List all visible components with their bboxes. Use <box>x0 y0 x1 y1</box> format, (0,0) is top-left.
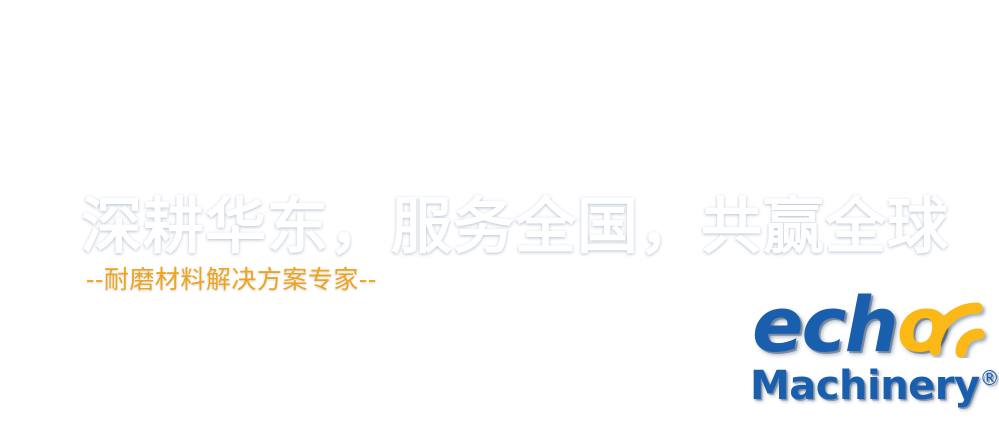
logo-wordmark: echo <box>748 293 999 371</box>
logo-machinery-word: Machinery <box>750 363 980 409</box>
logo-machinery-text: Machinery® <box>750 366 999 406</box>
promo-banner: 深耕华东，服务全国，共赢全球 --耐磨材料解决方案专家-- echo Mac <box>0 0 999 422</box>
banner-headline: 深耕华东，服务全国，共赢全球 <box>81 195 949 259</box>
registered-trademark-icon: ® <box>980 366 999 390</box>
banner-subtitle: --耐磨材料解决方案专家-- <box>86 265 377 295</box>
logo-text-ech: ech <box>752 280 897 369</box>
echo-machinery-logo[interactable]: echo Machinery® <box>748 293 999 422</box>
logo-echo-text: echo <box>752 287 947 363</box>
signal-waves-icon <box>919 292 999 358</box>
